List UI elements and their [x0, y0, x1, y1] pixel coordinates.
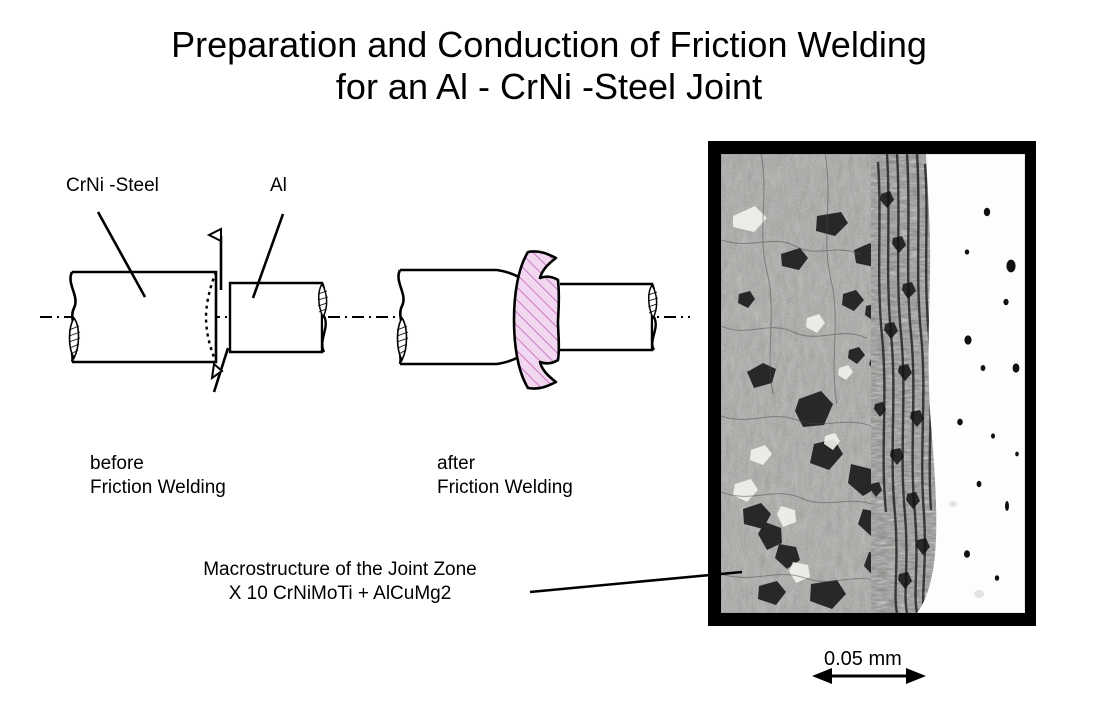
caption-before-line-2: Friction Welding: [90, 476, 226, 500]
caption-before-line-1: before: [90, 452, 226, 476]
title-line-1: Preparation and Conduction of Friction W…: [0, 24, 1098, 66]
caption-macro-line-1: Macrostructure of the Joint Zone: [155, 558, 525, 582]
caption-after-line-1: after: [437, 452, 573, 476]
macrograph-photo: [721, 154, 1025, 613]
macrograph-image: [721, 154, 1025, 613]
after-section-hatch-left: [397, 318, 408, 360]
before-steel-bar: [69, 272, 216, 362]
caption-after-friction-welding: after Friction Welding: [437, 452, 573, 501]
scale-bar-label: 0.05 mm: [824, 647, 902, 673]
after-aluminium-bar: [560, 284, 652, 350]
machined-cone-face: [206, 272, 216, 362]
leader-line-crni-steel: [98, 212, 145, 297]
slide-canvas: Preparation and Conduction of Friction W…: [0, 0, 1098, 706]
label-aluminium: Al: [270, 174, 287, 198]
caption-before-friction-welding: before Friction Welding: [90, 452, 226, 501]
weld-flash-zone: [514, 251, 559, 388]
label-crni-steel: CrNi -Steel: [66, 174, 159, 198]
after-joined-assembly: [397, 251, 658, 388]
macrograph-photo-frame: [708, 141, 1036, 626]
section-hatch-left: [69, 318, 80, 358]
page-title: Preparation and Conduction of Friction W…: [0, 24, 1098, 109]
after-section-hatch-right: [648, 285, 658, 318]
leader-line-aluminium: [253, 214, 283, 298]
caption-after-line-2: Friction Welding: [437, 476, 573, 500]
title-line-2: for an Al - CrNi -Steel Joint: [0, 66, 1098, 108]
caption-macro-line-2: X 10 CrNiMoTi + AlCuMg2: [155, 582, 525, 606]
caption-macrostructure: Macrostructure of the Joint Zone X 10 Cr…: [155, 558, 525, 607]
weld-symbol-flag-top: [209, 229, 221, 290]
weld-symbol-flag-bottom: [212, 348, 228, 392]
before-aluminium-bar: [230, 283, 328, 352]
section-hatch-right: [318, 284, 328, 317]
scale-bar-arrow-right: [906, 668, 926, 684]
after-steel-bar: [400, 270, 528, 364]
